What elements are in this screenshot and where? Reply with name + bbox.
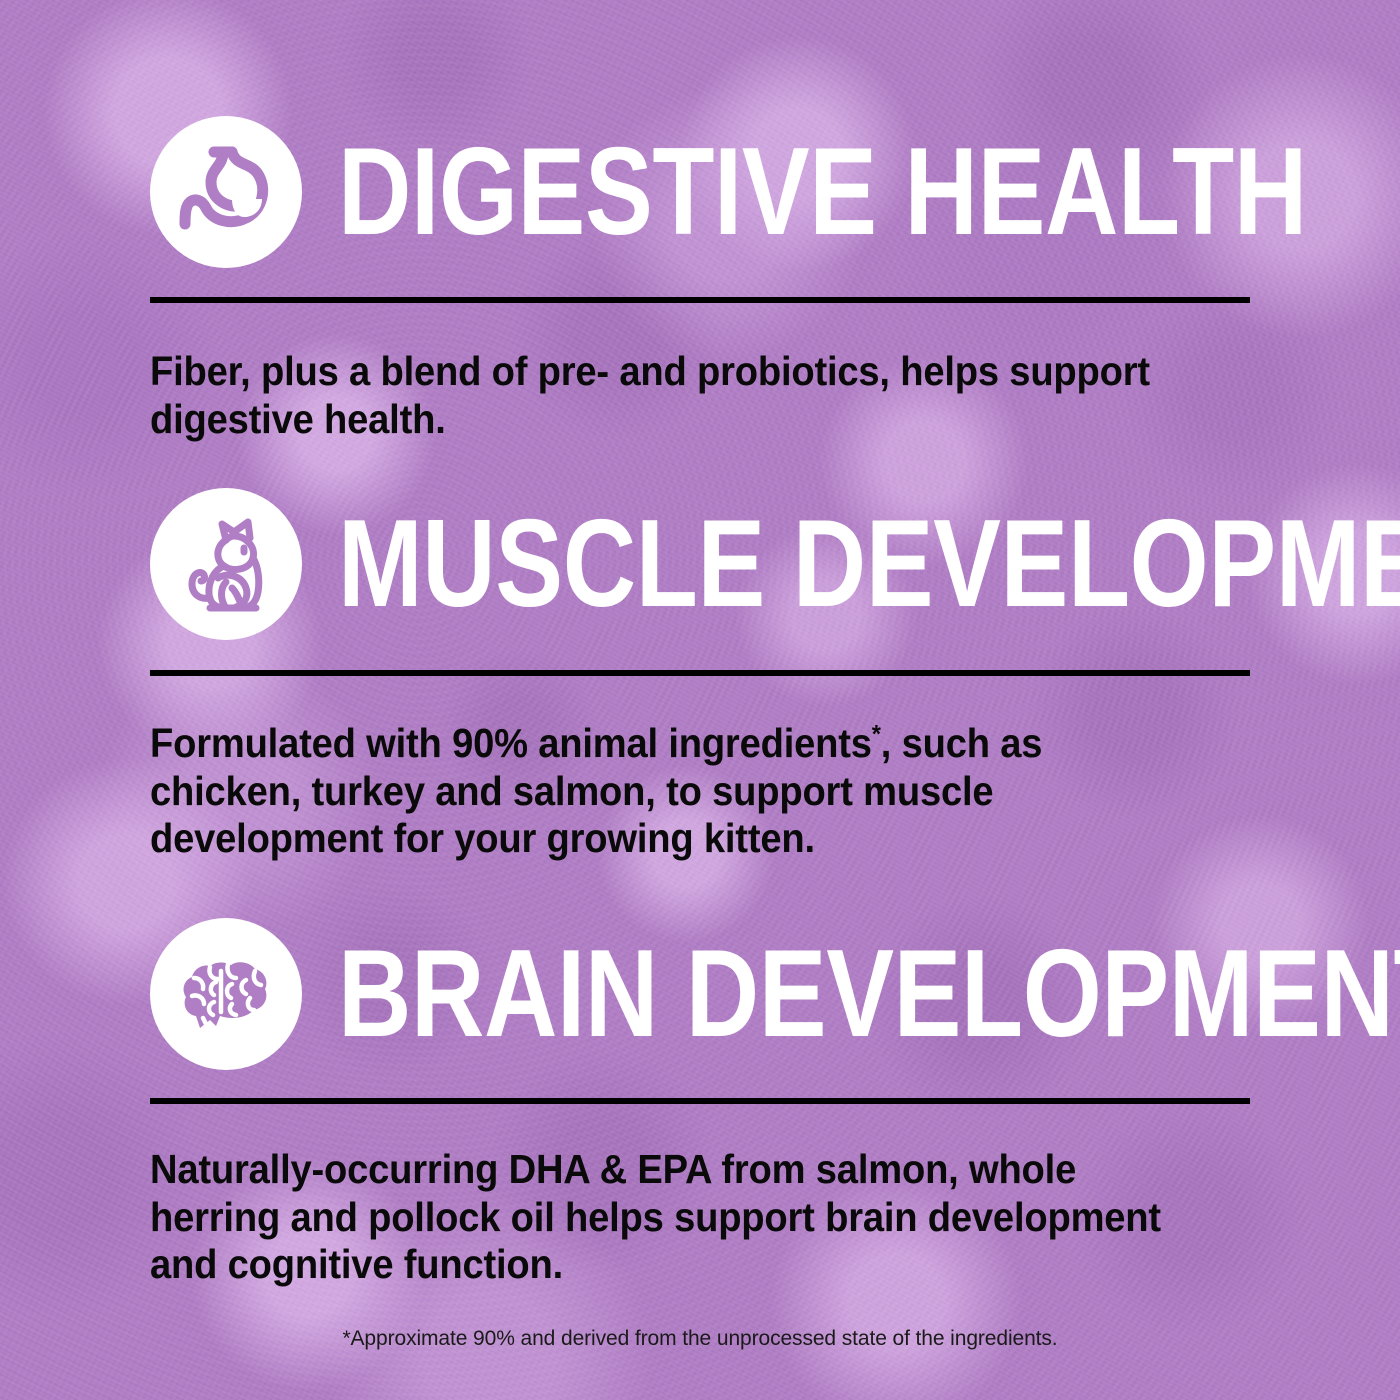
section-header-brain-development: BRAIN DEVELOPMENT xyxy=(150,918,1280,1070)
section-header-digestive-health: DIGESTIVE HEALTH xyxy=(150,116,1280,268)
body-text-digestive-health: Fiber, plus a blend of pre- and probioti… xyxy=(150,348,1178,443)
footnote-marker: * xyxy=(872,720,881,748)
heading-muscle-development: MUSCLE DEVELOPMENT xyxy=(338,511,1400,618)
product-benefits-panel: DIGESTIVE HEALTH Fiber, plus a blend of … xyxy=(0,0,1400,1400)
cat-icon xyxy=(150,488,302,640)
body-text-muscle-prefix: Formulated with 90% animal ingredients xyxy=(150,720,872,766)
divider-3 xyxy=(150,1098,1250,1104)
footnote: *Approximate 90% and derived from the un… xyxy=(0,1327,1400,1351)
heading-digestive-health: DIGESTIVE HEALTH xyxy=(338,139,1307,246)
stomach-icon xyxy=(150,116,302,268)
section-header-muscle-development: MUSCLE DEVELOPMENT xyxy=(150,488,1280,640)
divider-1 xyxy=(150,297,1250,303)
divider-2 xyxy=(150,670,1250,676)
heading-brain-development: BRAIN DEVELOPMENT xyxy=(338,941,1400,1048)
body-text-muscle-development: Formulated with 90% animal ingredients*,… xyxy=(150,720,1178,863)
body-text-brain-development: Naturally-occurring DHA & EPA from salmo… xyxy=(150,1146,1178,1289)
brain-icon xyxy=(150,918,302,1070)
